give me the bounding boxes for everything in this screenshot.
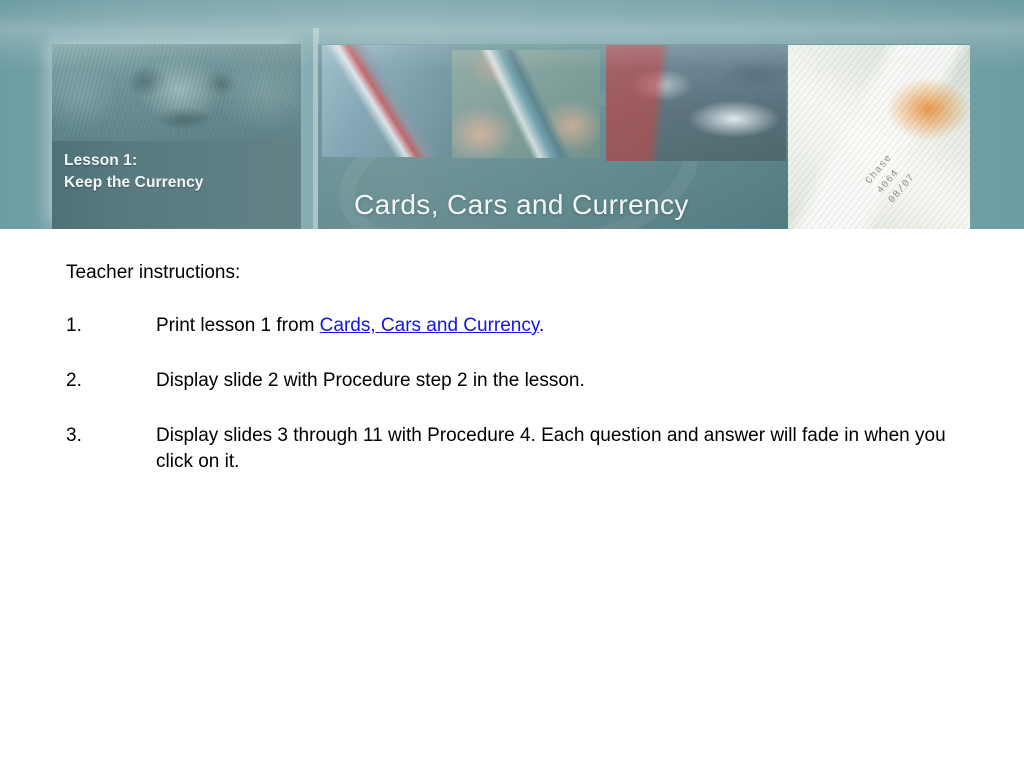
cards-cars-currency-link[interactable]: Cards, Cars and Currency <box>320 315 539 336</box>
step-2-text: Display slide 2 with Procedure step 2 in… <box>156 368 966 394</box>
lincoln-portrait-image <box>52 44 301 141</box>
step-1-number: 1. <box>66 313 82 339</box>
slide-body: Teacher instructions: 1. Print lesson 1 … <box>0 229 1024 768</box>
lesson-caption: Lesson 1: Keep the Currency <box>64 150 204 194</box>
step-3-number: 3. <box>66 423 82 449</box>
banner-collage: Chase 4064 08/07 Cards, Cars and Currenc… <box>318 44 970 229</box>
instruction-step-3: 3. Display slides 3 through 11 with Proc… <box>66 423 966 475</box>
lesson-title-card: Lesson 1: Keep the Currency <box>52 44 301 229</box>
step-1-suffix: . <box>539 315 544 336</box>
instruction-step-1: 1. Print lesson 1 from Cards, Cars and C… <box>66 313 966 339</box>
portrait-engraving-texture <box>52 44 301 141</box>
row-of-cars-image <box>606 45 786 161</box>
header-banner: Lesson 1: Keep the Currency Chase 4064 0… <box>0 0 1024 229</box>
step-3-text: Display slides 3 through 11 with Procedu… <box>156 423 966 475</box>
instruction-step-2: 2. Display slide 2 with Procedure step 2… <box>66 368 966 394</box>
step-2-number: 2. <box>66 368 82 394</box>
collage-title: Cards, Cars and Currency <box>354 189 689 221</box>
money-and-card-image: Chase 4064 08/07 <box>788 45 970 229</box>
card-swipe-image <box>322 45 454 157</box>
step-1-text: Print lesson 1 from Cards, Cars and Curr… <box>156 313 966 339</box>
hands-holding-card-image <box>452 50 600 158</box>
step-1-prefix: Print lesson 1 from <box>156 315 320 336</box>
teacher-instructions-heading: Teacher instructions: <box>66 262 240 284</box>
